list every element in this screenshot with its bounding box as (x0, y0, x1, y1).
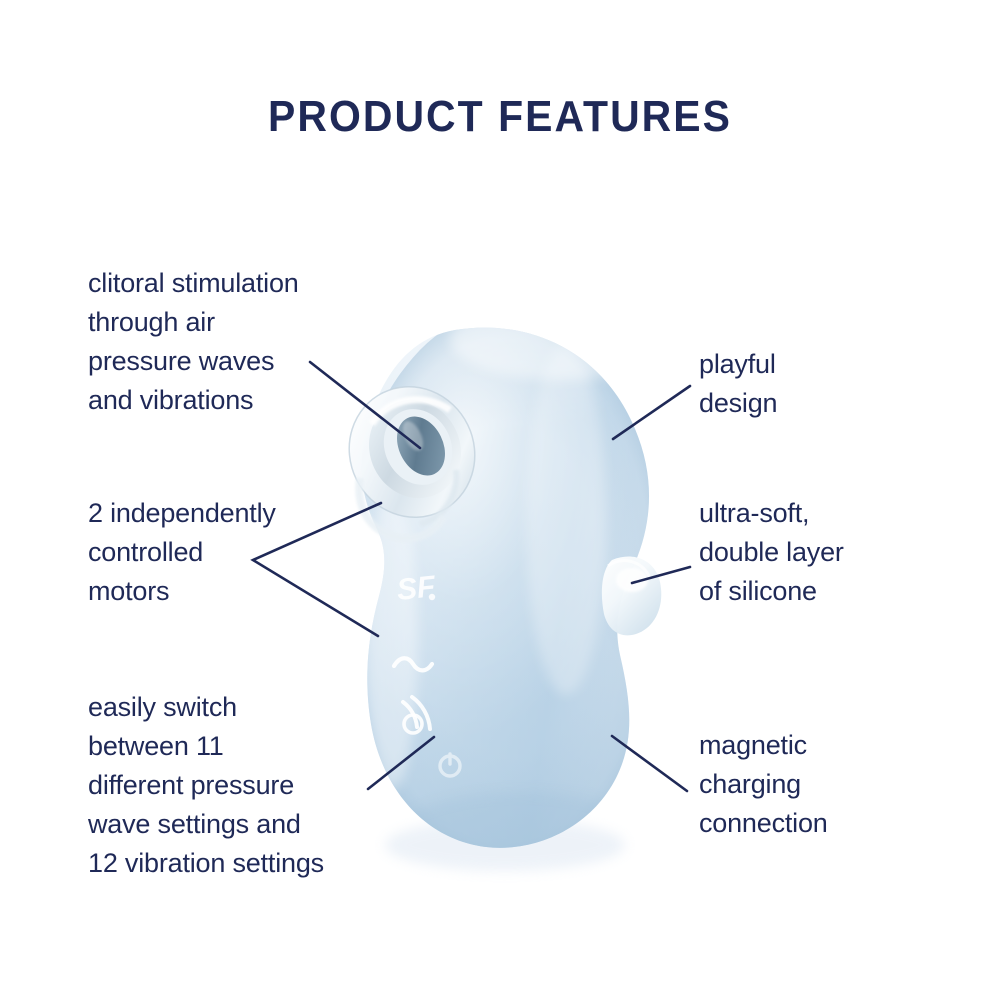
svg-text:SF: SF (395, 570, 437, 607)
product-illustration: SF (0, 0, 1000, 1000)
product-features-infographic: PRODUCT FEATURES (0, 0, 1000, 1000)
nub-highlight (616, 568, 648, 592)
body-highlight (526, 345, 606, 695)
side-nub (602, 557, 661, 636)
satisfyer-logo-icon: SF (395, 570, 437, 607)
